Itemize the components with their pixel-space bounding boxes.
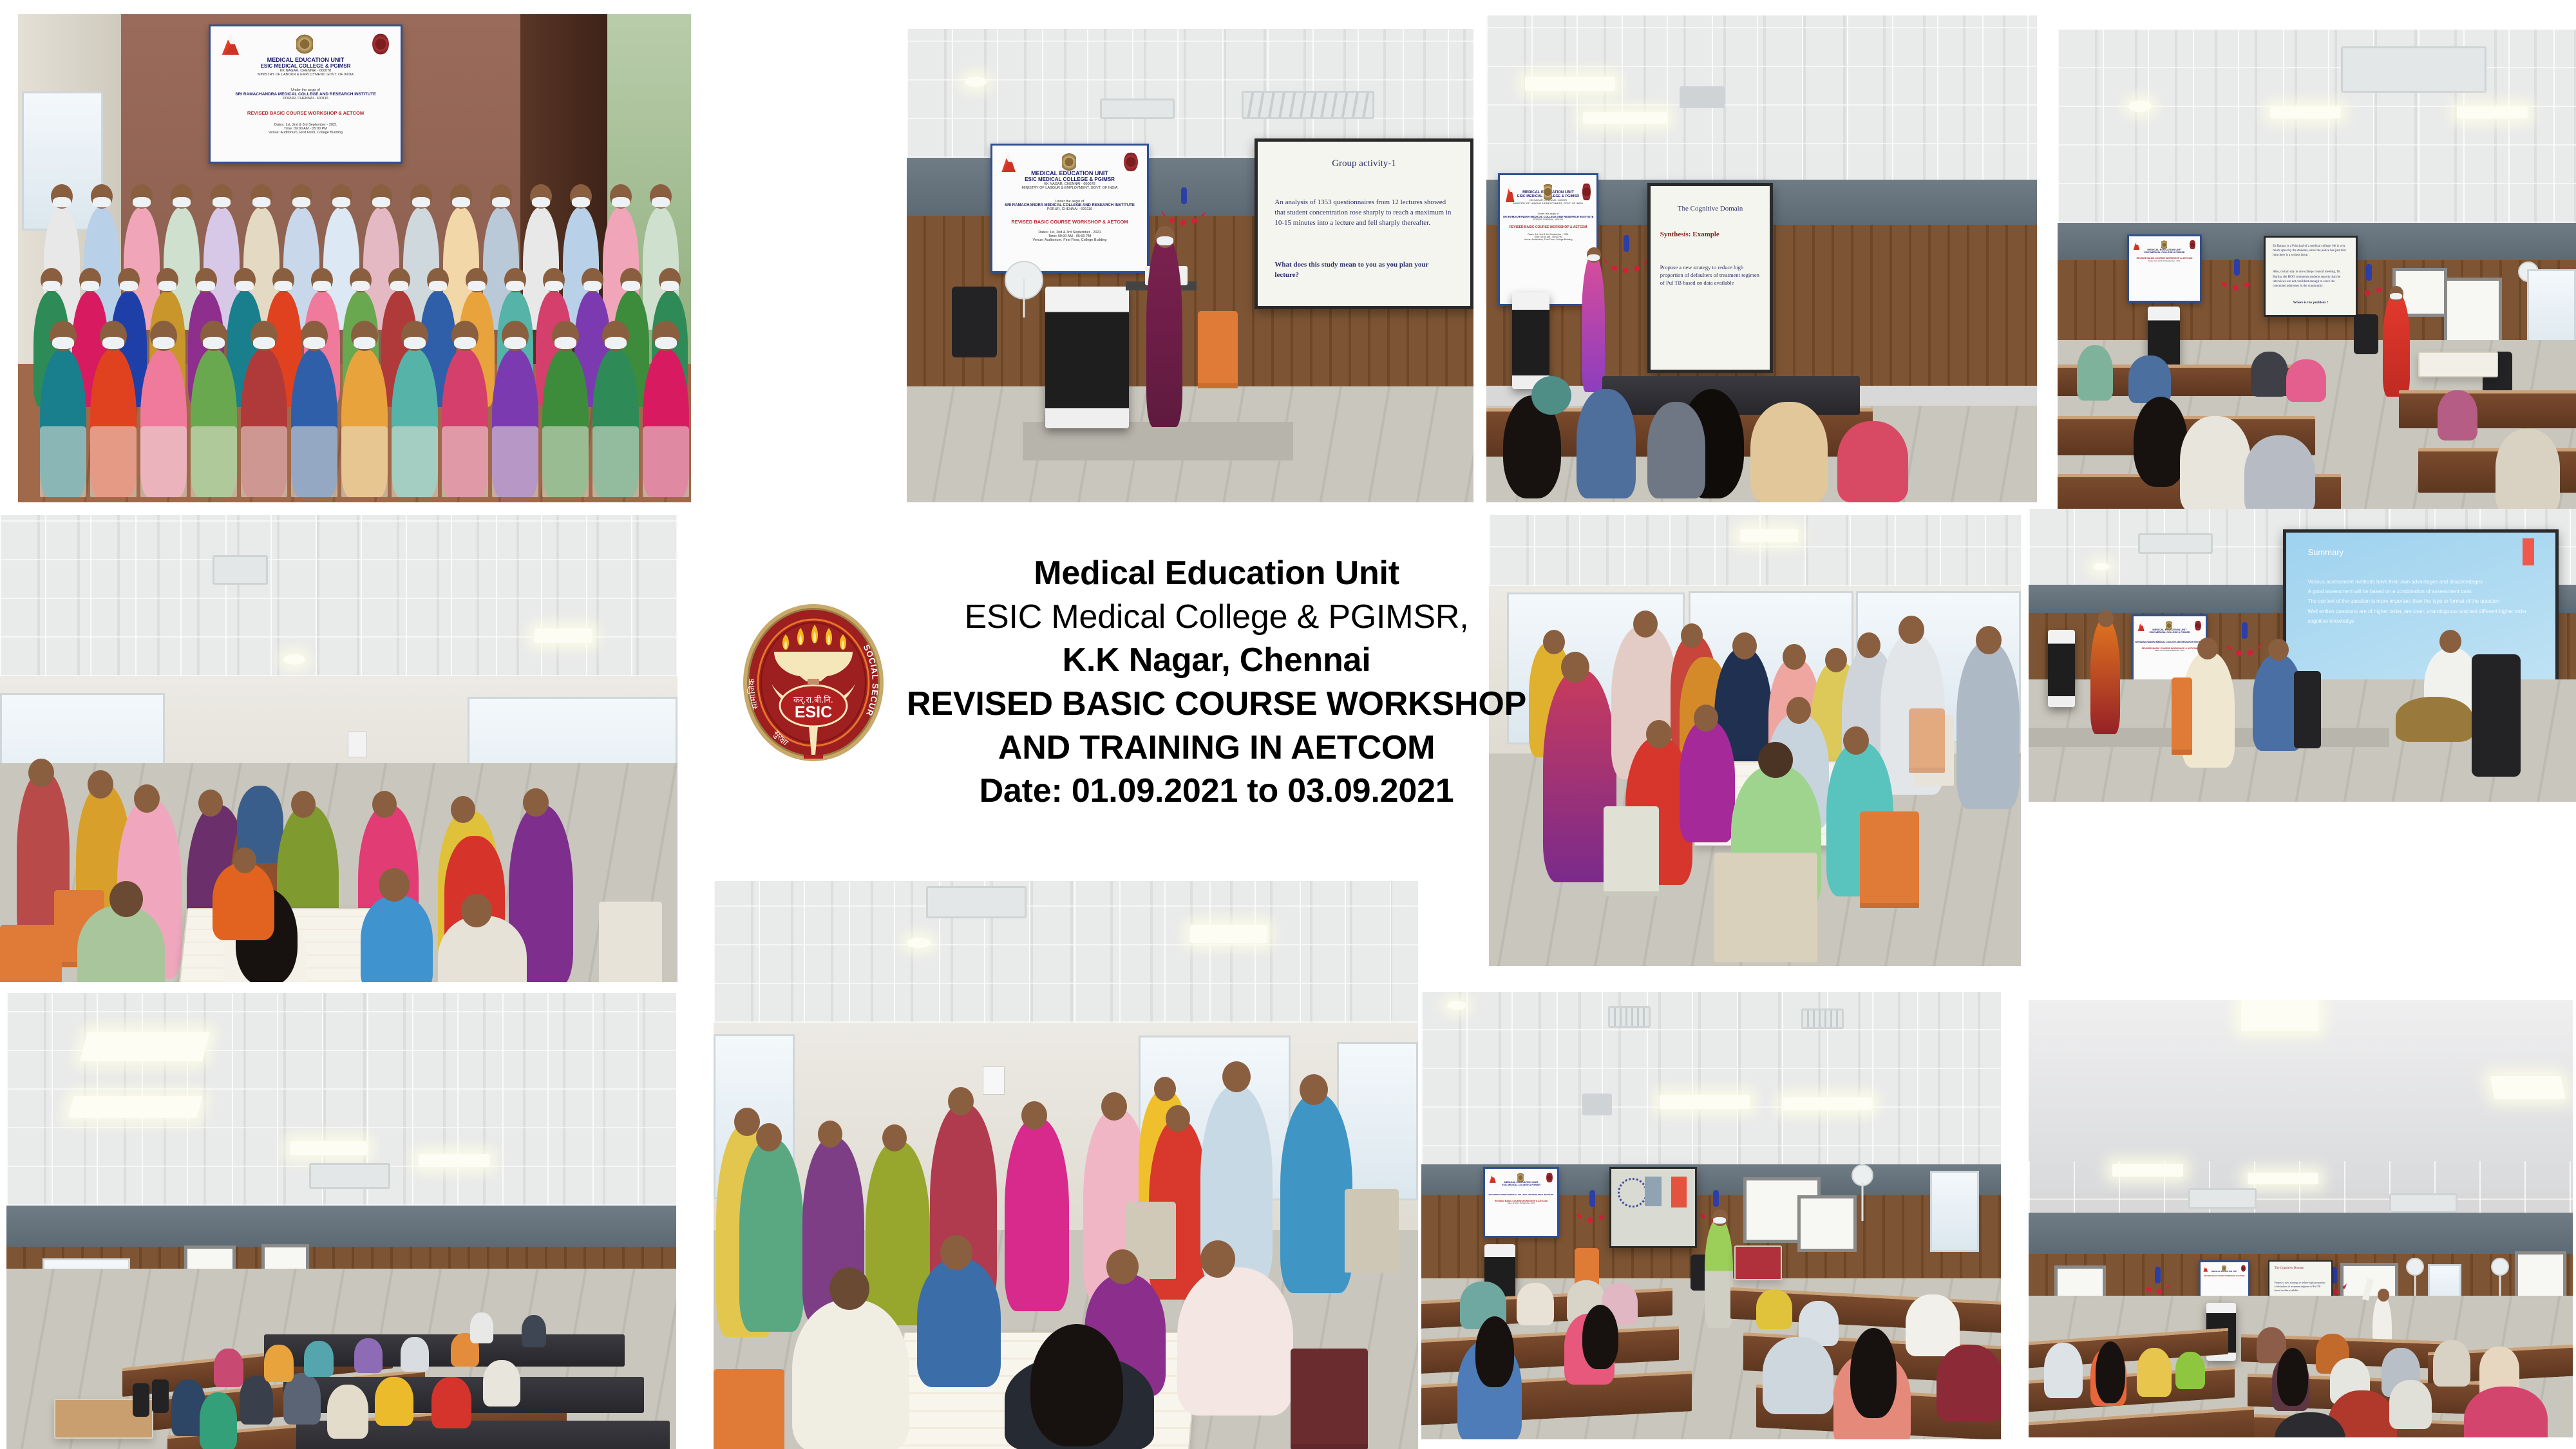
photo-cognitive-domain-session: MEDICAL EDUCATION UNIT ESIC MEDICAL COLL… [1486, 15, 2037, 502]
face-mask [120, 281, 137, 291]
slide-body: An analysis of 1353 questionnaires from … [1274, 198, 1453, 229]
slide-title: Group activity-1 [1274, 158, 1453, 169]
title-line-2: ESIC Medical College & PGIMSR, [965, 596, 1469, 639]
event-banner-podium: MEDICAL EDUCATION UNIT ESIC MEDICAL COLL… [990, 144, 1149, 273]
photo-summary-session: MEDICAL EDUCATION UNIT ESIC MEDICAL COLL… [2029, 509, 2576, 802]
face-mask [313, 281, 330, 291]
chair [643, 426, 689, 497]
chair [392, 426, 438, 497]
face-mask [545, 281, 562, 291]
face-mask [655, 337, 677, 349]
podium [1045, 287, 1129, 428]
photo-group-presentation-standing [1489, 515, 2021, 966]
title-line-1: Medical Education Unit [1034, 552, 1399, 596]
institution-seal-icon [1124, 152, 1138, 172]
face-mask [93, 197, 110, 207]
photo-group-work-round-table [0, 515, 677, 982]
face-mask [102, 337, 124, 349]
chair [442, 426, 488, 497]
logo-acronym: ESIC [795, 703, 832, 721]
banner-dates: Dates: 1st, 2nd & 3rd September - 2021 [2134, 650, 2206, 652]
face-mask [390, 281, 408, 291]
slide-label: The Cognitive Domain [2275, 1267, 2327, 1270]
photo-podium-speaker: MEDICAL EDUCATION UNIT ESIC MEDICAL COLL… [907, 29, 1473, 502]
banner-venue: Venue: Auditorium, First Floor, College … [1500, 238, 1596, 241]
banner-dates: Dates: 1st, 2nd & 3rd September - 2021 [2129, 260, 2200, 262]
banner-aegis-1: SRI RAMACHANDRA MEDICAL COLLEGE AND RESE… [1500, 215, 1596, 218]
face-mask [52, 337, 74, 349]
mci-logo-icon [1490, 1172, 1496, 1183]
face-mask [303, 337, 325, 349]
face-mask [133, 197, 150, 207]
photo-lecture-hall-left [6, 993, 676, 1449]
summary-bullet-1: Various assessment methods have their ow… [2307, 577, 2533, 587]
emblem-of-india-icon [1544, 182, 1553, 202]
summary-bullet-3: The context of the question is more impo… [2307, 596, 2533, 606]
slide-bullet: Propose a new strategy to reduce high pr… [1660, 263, 1760, 287]
face-mask [173, 197, 190, 207]
chair [241, 426, 287, 497]
face-mask [53, 197, 70, 207]
banner-title-2: ESIC MEDICAL COLLEGE & PGIMSR [2134, 631, 2206, 634]
face-mask [554, 337, 576, 349]
institution-seal-icon [1582, 182, 1591, 202]
photo-group-photograph: MEDICAL EDUCATION UNIT ESIC MEDICAL COLL… [18, 14, 691, 502]
face-mask [583, 281, 601, 291]
chair [492, 426, 538, 497]
face-mask [213, 197, 230, 207]
face-mask [652, 197, 669, 207]
mci-logo-icon [2203, 1265, 2208, 1272]
banner-event: REVISED BASIC COURSE WORKSHOP & AETCOM [2201, 1275, 2248, 1277]
banner-event: REVISED BASIC COURSE WORKSHOP & AETCOM [211, 110, 401, 116]
title-line-5: AND TRAINING IN AETCOM [998, 726, 1435, 770]
face-mask [622, 281, 639, 291]
title-line-6: Date: 01.09.2021 to 03.09.2021 [980, 770, 1454, 813]
emblem-of-india-icon [296, 33, 314, 55]
face-mask [661, 281, 678, 291]
summary-bullet-2: A good assessment will be based on a com… [2307, 587, 2533, 596]
emblem-of-india-icon [1517, 1172, 1524, 1183]
face-mask [506, 281, 524, 291]
mci-logo-icon [2138, 620, 2145, 632]
face-mask [236, 281, 253, 291]
face-mask [352, 281, 369, 291]
face-mask [203, 337, 225, 349]
chair [191, 426, 237, 497]
banner-title-1: MEDICAL EDUCATION UNIT [211, 57, 401, 63]
face-mask [332, 197, 350, 207]
face-mask [372, 197, 390, 207]
summary-bullet-4: Well written questions are of higher ord… [2307, 607, 2533, 626]
banner-event: REVISED BASIC COURSE WORKSHOP & AETCOM [1500, 225, 1596, 229]
face-mask [274, 281, 292, 291]
ceiling-projector [1680, 86, 1725, 108]
chair [90, 426, 137, 497]
event-banner-hall-wide: MEDICAL EDUCATION UNIT ESIC MEDICAL COLL… [2127, 234, 2202, 303]
photo-lecture-hall-facilitator: MEDICAL EDUCATION UNIT ESIC MEDICAL COLL… [1421, 992, 2001, 1439]
chair [542, 426, 589, 497]
banner-aegis-1: SRI RAMACHANDRA MEDICAL COLLEGE AND RESE… [2134, 641, 2206, 643]
banner-sub-2: MINISTRY OF LABOUR & EMPLOYMENT, GOVT. O… [992, 186, 1147, 190]
projection-screen [1609, 1167, 1697, 1248]
emblem-of-india-icon [2161, 240, 2168, 250]
chair [291, 426, 337, 497]
banner-aegis-2: PORUR, CHENNAI - 600116 [211, 97, 401, 100]
face-mask [252, 197, 270, 207]
pedestal-fan [1005, 261, 1043, 299]
photo-collage: MEDICAL EDUCATION UNIT ESIC MEDICAL COLL… [0, 0, 2576, 1449]
face-mask [43, 281, 60, 291]
banner-title-2: ESIC MEDICAL COLLEGE & PGIMSR [1485, 1184, 1557, 1186]
banner-sub-2: MINISTRY OF LABOUR & EMPLOYMENT, GOVT. O… [211, 73, 401, 77]
banner-title-2: ESIC MEDICAL COLLEGE & PGIMSR [211, 63, 401, 69]
emblem-of-india-icon [1062, 152, 1076, 172]
esic-logo: कर्.रा.बी.नि. ESIC सामाजिक SOCIAL SECURI… [742, 603, 885, 762]
face-mask [532, 197, 549, 207]
banner-aegis-1: SRI RAMACHANDRA MEDICAL COLLEGE AND RESE… [992, 204, 1147, 207]
title-line-4: REVISED BASIC COURSE WORKSHOP [907, 683, 1526, 726]
banner-aegis-2: PORUR, CHENNAI - 600116 [992, 207, 1147, 211]
face-mask [292, 197, 310, 207]
title-lines: Medical Education Unit ESIC Medical Coll… [907, 552, 1526, 813]
banner-aegis-2: PORUR, CHENNAI - 600116 [1500, 218, 1596, 221]
collage-title-block: कर्.रा.बी.नि. ESIC सामाजिक SOCIAL SECURI… [742, 580, 1489, 786]
banner-venue: Venue: Auditorium, First Floor, College … [211, 131, 401, 135]
face-mask [81, 281, 99, 291]
face-mask [612, 197, 629, 207]
face-mask [504, 337, 526, 349]
projection-screen: The Cognitive Domain Synthesis: Example … [1647, 183, 1773, 373]
slide-subtitle: Synthesis: Example [1660, 230, 1760, 240]
face-mask [153, 337, 175, 349]
face-mask [158, 281, 176, 291]
face-mask [452, 197, 469, 207]
face-mask [492, 197, 509, 207]
event-banner: MEDICAL EDUCATION UNIT ESIC MEDICAL COLL… [209, 24, 402, 164]
banner-title-2: ESIC MEDICAL COLLEGE & PGIMSR [992, 176, 1147, 182]
mci-logo-icon [1001, 152, 1016, 172]
face-mask [354, 337, 375, 349]
flip-board [2444, 278, 2502, 345]
face-mask [412, 197, 430, 207]
mci-logo-icon [222, 33, 240, 55]
mci-logo-icon [2134, 240, 2140, 250]
face-mask [404, 337, 426, 349]
face-mask [429, 281, 446, 291]
banner-venue: Venue: Auditorium, First Floor, College … [992, 238, 1147, 242]
banner-aegis-1: SRI RAMACHANDRA MEDICAL COLLEGE AND RESE… [1485, 1193, 1557, 1196]
emblem-of-india-icon [2222, 1265, 2226, 1272]
face-mask [468, 281, 485, 291]
banner-aegis-1: SRI RAMACHANDRA MEDICAL COLLEGE AND RESE… [211, 92, 401, 97]
face-mask [605, 337, 627, 349]
slide-body: Dr Raman is a Principal of a medical col… [2273, 244, 2349, 258]
institution-seal-icon [372, 33, 390, 55]
face-mask [572, 197, 589, 207]
photo-lecture-hall-right: MEDICAL EDUCATION UNIT REVISED BASIC COU… [2029, 1000, 2573, 1437]
emblem-of-india-icon [2166, 620, 2172, 632]
projection-screen: Dr Raman is a Principal of a medical col… [2264, 236, 2358, 317]
face-mask [197, 281, 214, 291]
slide-title: Summary [2307, 547, 2533, 557]
event-banner-lecture: MEDICAL EDUCATION UNIT ESIC MEDICAL COLL… [1483, 1167, 1559, 1238]
chair [140, 426, 187, 497]
institution-seal-icon [2241, 1265, 2246, 1272]
chair [40, 426, 86, 497]
photo-hall-session-wide: MEDICAL EDUCATION UNIT ESIC MEDICAL COLL… [2058, 30, 2576, 514]
banner-event: REVISED BASIC COURSE WORKSHOP & AETCOM [992, 219, 1147, 225]
photo-group-activity-discussion [714, 881, 1418, 1449]
slide-question: Where is the problem ? [2273, 301, 2349, 306]
banner-title-2: ESIC MEDICAL COLLEGE & PGIMSR [2129, 251, 2200, 254]
chair [341, 426, 388, 497]
face-mask [454, 337, 476, 349]
projection-screen: Group activity-1 An analysis of 1353 que… [1255, 138, 1473, 309]
slide-title: The Cognitive Domain [1660, 205, 1760, 213]
banner-dates: Dates: 1st, 2nd & 3rd September - 2021 [1485, 1202, 1557, 1204]
slide-text: Propose a new strategy to reduce high pr… [2275, 1281, 2327, 1292]
slide-question: What does this study mean to you as you … [1274, 260, 1453, 281]
slide-body-2: Also, certain day in one college council… [2273, 270, 2349, 289]
chair [592, 426, 639, 497]
face-mask [253, 337, 275, 349]
title-line-3: K.K Nagar, Chennai [1063, 639, 1371, 683]
